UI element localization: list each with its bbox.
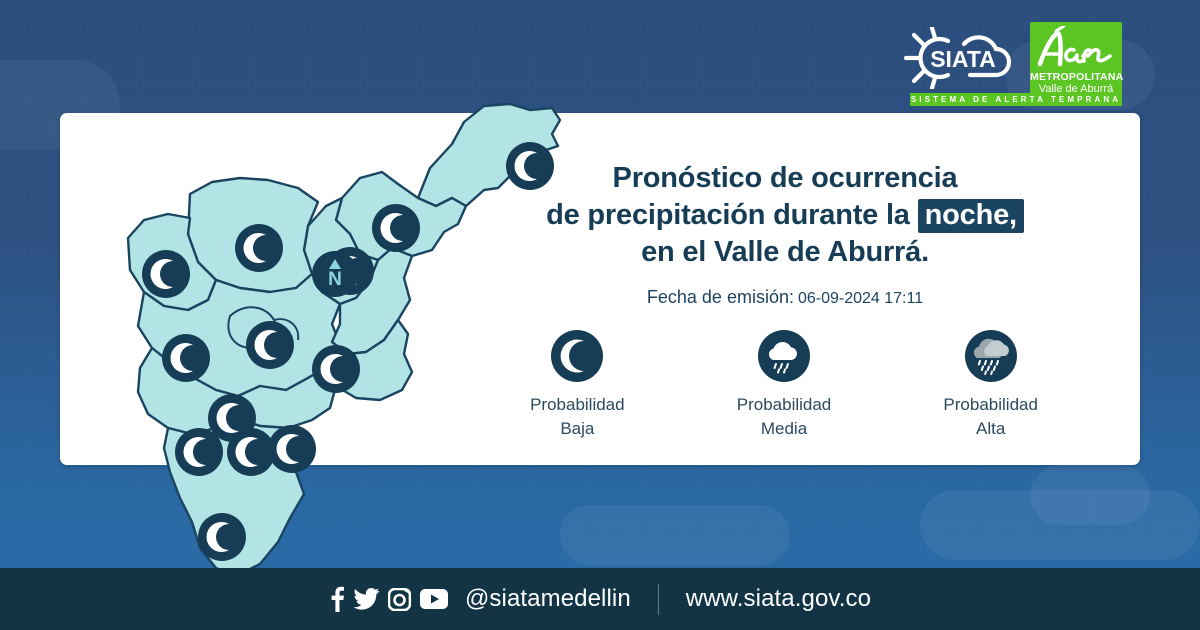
moon-icon [551, 330, 603, 382]
area-logo-line1: METROPOLITANA [1030, 72, 1122, 83]
probability-legend: Probabilidad Baja Probabilidad Media [474, 330, 1094, 441]
map-badge-la-estrella[interactable] [175, 428, 223, 476]
area-script-icon [1030, 26, 1116, 72]
legend-label-alta: Probabilidad Alta [887, 393, 1094, 441]
legend-item-alta: Probabilidad Alta [887, 330, 1094, 441]
map-badge-caldas[interactable] [227, 428, 275, 476]
map-badge-bello[interactable] [142, 250, 190, 298]
legend-item-media: Probabilidad Media [681, 330, 888, 441]
map-badge-medellín[interactable] [246, 321, 294, 369]
map-badge-girardota-sur[interactable] [268, 425, 316, 473]
legend-label-line2: Media [761, 419, 807, 438]
legend-label-line2: Baja [560, 419, 594, 438]
headline-block: Pronóstico de ocurrencia de precipitació… [470, 160, 1100, 308]
map-badge-envigado[interactable] [312, 345, 360, 393]
footer-bar: @siatamedellin www.siata.gov.co [0, 568, 1200, 630]
facebook-icon[interactable] [329, 586, 345, 612]
cloud-rain-moon-icon [758, 330, 810, 382]
compass-north-icon: N [312, 251, 358, 297]
title-line-3: en el Valle de Aburrá. [641, 236, 929, 268]
map-badge-itagüí[interactable] [162, 334, 210, 382]
background-cloud [560, 505, 790, 565]
sun-cloud-icon: SIATA [904, 27, 1022, 89]
legend-item-baja: Probabilidad Baja [474, 330, 681, 441]
legend-label-line1: Probabilidad [530, 395, 625, 414]
emission-date: Fecha de emisión:06-09-2024 17:11 [470, 287, 1100, 308]
map-badge-san-pedro[interactable] [235, 224, 283, 272]
legend-label-line1: Probabilidad [943, 395, 1038, 414]
compass-label: N [328, 269, 342, 290]
forecast-poster: SIATA METROPOLITANA Valle de Aburrá SIST… [0, 0, 1200, 630]
legend-label-line2: Alta [976, 419, 1005, 438]
emission-label: Fecha de emisión: [647, 287, 794, 307]
emission-value: 06-09-2024 17:11 [798, 290, 923, 307]
logo-group: SIATA METROPOLITANA Valle de Aburrá [904, 22, 1122, 101]
website-url[interactable]: www.siata.gov.co [686, 585, 871, 613]
instagram-icon[interactable] [388, 588, 411, 611]
page-title: Pronóstico de ocurrencia de precipitació… [470, 160, 1100, 270]
siata-logo: SIATA [904, 27, 1022, 94]
social-handle[interactable]: @siatamedellin [465, 585, 631, 613]
area-metropolitana-logo: METROPOLITANA Valle de Aburrá [1030, 22, 1122, 101]
title-highlight-period: noche, [918, 199, 1024, 233]
siata-wordmark: SIATA [930, 46, 996, 72]
legend-label-baja: Probabilidad Baja [474, 393, 681, 441]
title-line-2-prefix: de precipitación durante la [546, 199, 910, 231]
youtube-icon[interactable] [420, 589, 448, 609]
title-line-1: Pronóstico de ocurrencia [613, 162, 958, 194]
background-cloud [1030, 465, 1150, 525]
cloud-heavy-rain-icon [965, 330, 1017, 382]
tagline-banner: SISTEMA DE ALERTA TEMPRANA [910, 93, 1122, 106]
map-badge-caldas-sur[interactable] [198, 513, 246, 561]
twitter-icon[interactable] [354, 588, 379, 610]
social-icon-group [329, 586, 448, 612]
footer-divider [658, 584, 659, 615]
map-badge-girardota[interactable] [372, 204, 420, 252]
legend-label-media: Probabilidad Media [681, 393, 888, 441]
legend-label-line1: Probabilidad [737, 395, 832, 414]
